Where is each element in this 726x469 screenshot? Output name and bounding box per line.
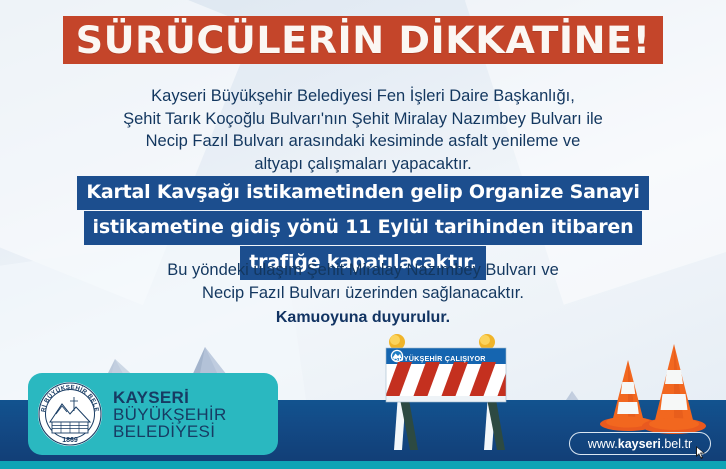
closing-paragraph: Bu yöndeki ulaşım Şehit Miralay Nazımbey… [0, 259, 726, 304]
bottom-teal-strip [0, 461, 726, 469]
seal-year: 1869 [62, 437, 78, 444]
traffic-cones-graphic [592, 336, 712, 436]
closing-line-2: Necip Fazıl Bulvarı üzerinden sağlanacak… [0, 282, 726, 305]
intro-line-4: altyapı çalışmaları yapacaktır. [0, 153, 726, 176]
municipality-seal-icon: KAYSERİ BÜYÜKŞEHİR BELEDİYESİ 1869 [36, 380, 104, 448]
intro-paragraph: Kayseri Büyükşehir Belediyesi Fen İşleri… [0, 85, 726, 175]
cursor-arrow-icon [696, 446, 708, 460]
municipality-name: KAYSERİ BÜYÜKŞEHİR BELEDİYESİ [113, 389, 227, 440]
municipality-logo-panel: KAYSERİ BÜYÜKŞEHİR BELEDİYESİ 1869 [28, 373, 278, 455]
logo-line-kayseri: KAYSERİ [113, 389, 227, 406]
traffic-cone-small [600, 360, 656, 431]
intro-line-2: Şehit Tarık Koçoğlu Bulvarı'nın Şehit Mi… [0, 108, 726, 131]
logo-line-buyuksehir: BÜYÜKŞEHİR [113, 406, 227, 423]
website-url-pill[interactable]: www.kayseri.bel.tr [569, 432, 711, 455]
headline-banner: SÜRÜCÜLERİN DİKKATİNE! [63, 16, 663, 64]
url-prefix: www. [588, 437, 618, 451]
headline-text: SÜRÜCÜLERİN DİKKATİNE! [76, 22, 651, 59]
highlight-line-2: istikametine gidiş yönü 11 Eylül tarihin… [84, 211, 643, 245]
intro-line-1: Kayseri Büyükşehir Belediyesi Fen İşleri… [0, 85, 726, 108]
highlight-line-1: Kartal Kavşağı istikametinden gelip Orga… [77, 176, 648, 210]
url-suffix: .bel.tr [661, 437, 692, 451]
road-barrier-graphic: BÜYÜKŞEHİR ÇALIŞIYOR [366, 334, 526, 459]
public-notice-text: Kamuoyuna duyurulur. [0, 309, 726, 327]
highlight-row-2: istikametine gidiş yönü 11 Eylül tarihin… [0, 211, 726, 245]
announcement-poster: SÜRÜCÜLERİN DİKKATİNE! Kayseri Büyükşehi… [0, 0, 726, 469]
logo-line-belediyesi: BELEDİYESİ [113, 423, 227, 440]
intro-line-3: Necip Fazıl Bulvarı arasındaki kesiminde… [0, 130, 726, 153]
traffic-cone-large [642, 344, 706, 434]
url-brand: kayseri [618, 437, 661, 451]
closing-line-1: Bu yöndeki ulaşım Şehit Miralay Nazımbey… [0, 259, 726, 282]
highlight-row-1: Kartal Kavşağı istikametinden gelip Orga… [0, 176, 726, 210]
